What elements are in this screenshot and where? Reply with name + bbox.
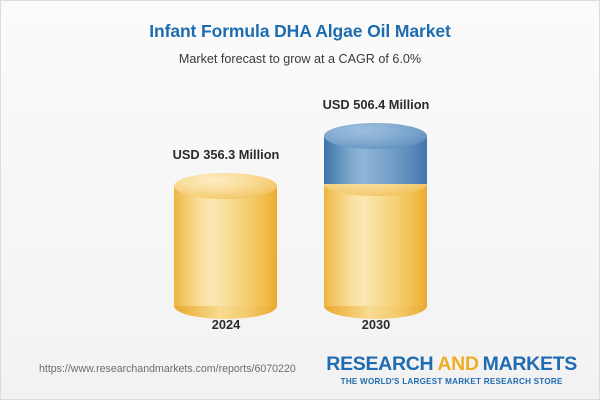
logo-word-and: AND xyxy=(433,353,482,375)
footer: https://www.researchandmarkets.com/repor… xyxy=(1,345,599,399)
cylinder-top-cap-2030 xyxy=(324,123,427,149)
bar-value-label-2024: USD 356.3 Million xyxy=(146,147,306,162)
cylinder-2030 xyxy=(324,123,427,306)
logo-tagline: THE WORLD'S LARGEST MARKET RESEARCH STOR… xyxy=(326,376,577,387)
report-url-link[interactable]: https://www.researchandmarkets.com/repor… xyxy=(39,363,296,375)
logo-word-research: RESEARCH xyxy=(326,353,433,375)
bar-group-2024: USD 356.3 Million 2024 xyxy=(146,1,306,346)
cylinder-body-base-2030 xyxy=(324,184,427,306)
logo-wordmark: RESEARCHANDMARKETS xyxy=(326,354,577,375)
bar-group-2030: USD 506.4 Million 2030 xyxy=(296,1,456,346)
cylinder-body-base-2024 xyxy=(174,186,277,306)
research-and-markets-logo[interactable]: RESEARCHANDMARKETS THE WORLD'S LARGEST M… xyxy=(326,354,577,387)
cylinder-2024 xyxy=(174,173,277,306)
category-label-2030: 2030 xyxy=(296,317,456,332)
chart-plot-area: USD 356.3 Million 2024 USD 506.4 Million xyxy=(1,1,599,346)
category-label-2024: 2024 xyxy=(146,317,306,332)
bar-value-label-2030: USD 506.4 Million xyxy=(296,97,456,112)
logo-word-markets: MARKETS xyxy=(483,353,577,375)
cylinder-top-cap-2024 xyxy=(174,173,277,199)
market-forecast-infographic: Infant Formula DHA Algae Oil Market Mark… xyxy=(0,0,600,400)
